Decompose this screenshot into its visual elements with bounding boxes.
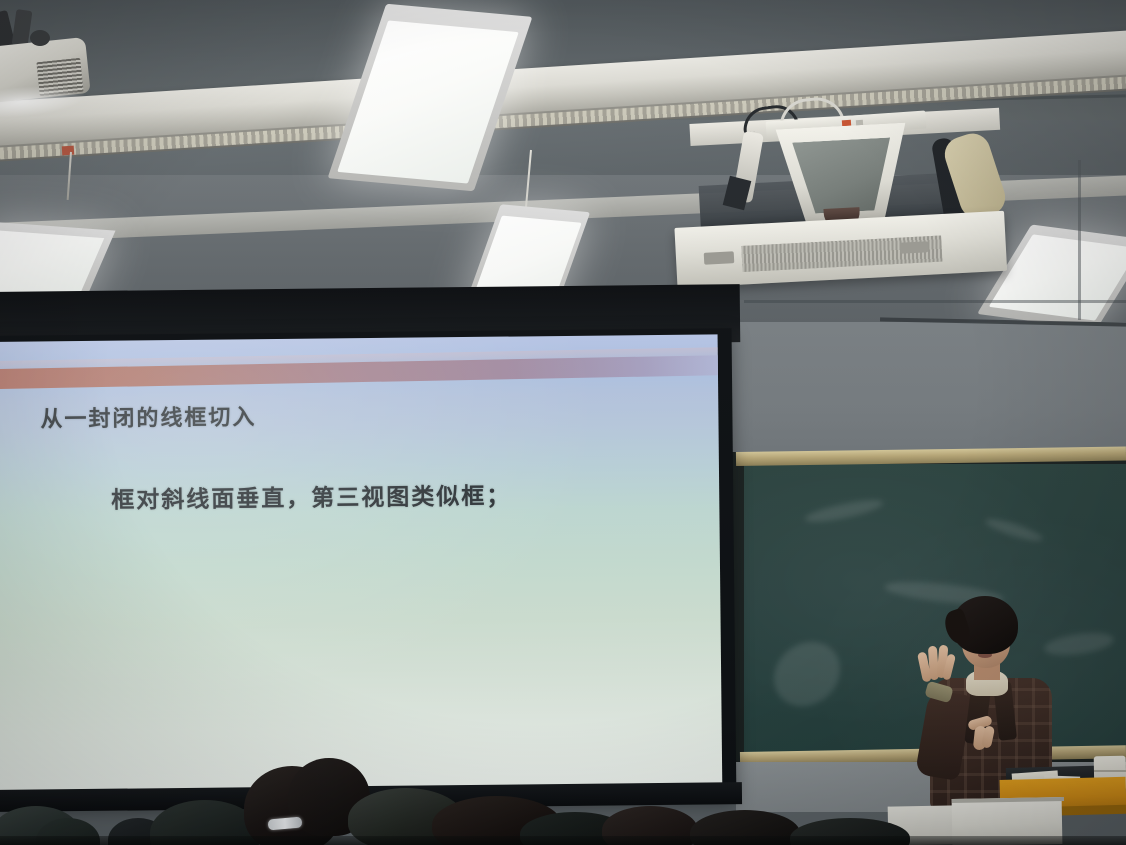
wall-seam-vertical	[1078, 160, 1081, 320]
beam-red-marker	[62, 146, 75, 156]
ceiling-light-right	[1000, 232, 1126, 322]
classroom-photo: 从一封闭的线框切入 框对斜线面垂直，第三视图类似框；	[0, 0, 1126, 845]
cup-stack-rim	[1094, 770, 1126, 772]
ac-vent-slot-right	[900, 241, 929, 253]
chalk-smudge	[761, 629, 853, 720]
projector-lens-glow	[0, 81, 87, 120]
wall-seam-upper	[744, 300, 1126, 303]
projector-mount-arm-2	[12, 9, 33, 47]
slide-body-text: 框对斜线面垂直，第三视图类似框；	[111, 477, 511, 515]
ceiling-light-large	[355, 10, 505, 185]
wall-projector	[0, 12, 100, 120]
slide-heading: 从一封闭的线框切入	[40, 399, 256, 433]
lecturer-hand-right	[968, 714, 1000, 752]
ac-vent-slot-left	[704, 251, 735, 265]
slide-surface: 从一封闭的线框切入 框对斜线面垂直，第三视图类似框；	[0, 334, 722, 798]
projector-power-led	[842, 120, 851, 127]
projection-screen: 从一封闭的线框切入 框对斜线面垂直，第三视图类似框；	[0, 328, 736, 806]
back-wall-lower	[724, 322, 1126, 467]
lamp-face	[337, 20, 519, 183]
lecturer-hand-left	[918, 644, 952, 686]
projector-knob	[30, 30, 50, 46]
chalk-smudge	[803, 496, 884, 526]
foreground-shadow	[0, 836, 1126, 845]
chalk-smudge	[984, 515, 1045, 545]
